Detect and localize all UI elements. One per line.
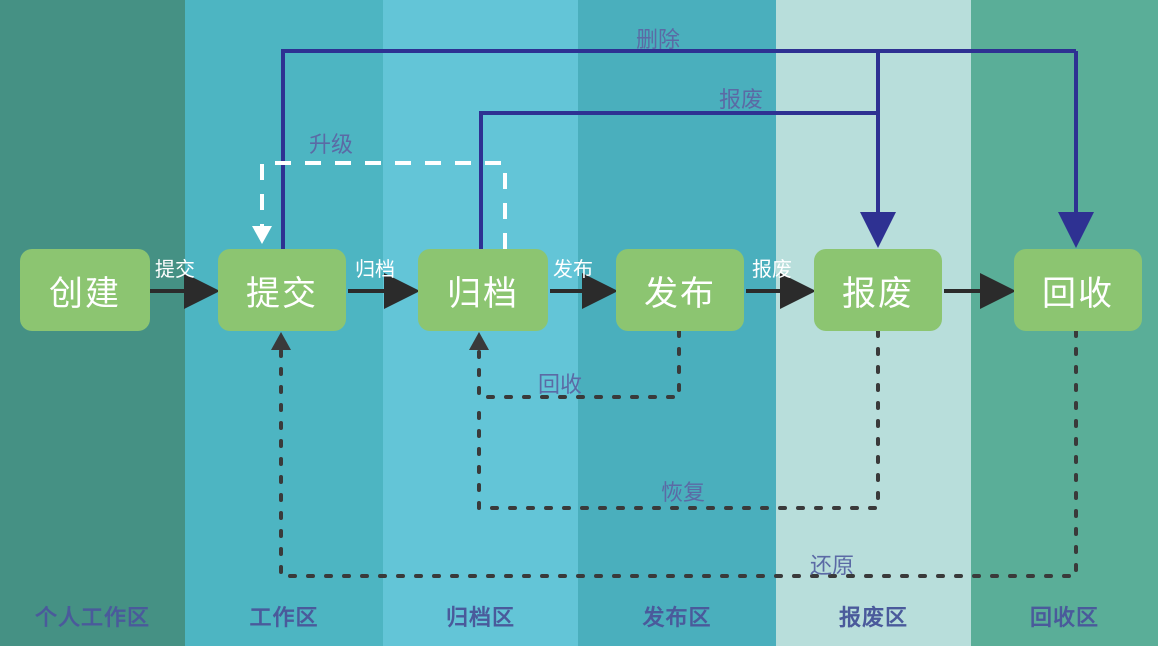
node-1[interactable]: 创建: [20, 249, 150, 331]
zone-label-2: 工作区: [185, 600, 383, 632]
flow-label-2: 报废: [719, 82, 763, 114]
flow-label-1: 删除: [636, 22, 680, 54]
edge-label-2: 归档: [355, 253, 395, 282]
flow-label-6: 还原: [810, 548, 854, 580]
zone-label-6: 回收区: [971, 600, 1158, 632]
flow-label-3: 升级: [309, 127, 353, 159]
zone-label-1: 个人工作区: [0, 600, 185, 632]
edge-label-4: 报废: [752, 253, 792, 282]
node-3[interactable]: 归档: [418, 249, 548, 331]
flow-label-5: 恢复: [661, 475, 705, 507]
node-6[interactable]: 回收: [1014, 249, 1142, 331]
workflow-diagram: 个人工作区工作区归档区发布区报废区回收区: [0, 0, 1158, 646]
zone-label-4: 发布区: [578, 600, 776, 632]
node-5[interactable]: 报废: [814, 249, 942, 331]
node-2[interactable]: 提交: [218, 249, 346, 331]
zone-label-3: 归档区: [383, 600, 578, 632]
zone-label-5: 报废区: [776, 600, 971, 632]
node-4[interactable]: 发布: [616, 249, 744, 331]
edge-label-1: 提交: [155, 253, 195, 282]
edge-label-3: 发布: [553, 253, 593, 282]
flow-label-4: 回收: [538, 367, 582, 399]
